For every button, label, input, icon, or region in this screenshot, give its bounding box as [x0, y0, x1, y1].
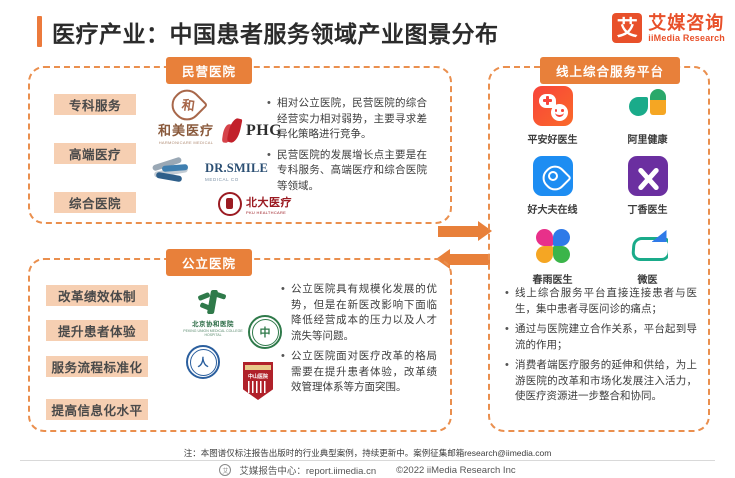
- logo-sub-pku: PKU HEALTHCARE: [246, 210, 292, 215]
- logo-label-pumc: 北京协和医院: [178, 318, 248, 328]
- chip-private-0: 专科服务: [54, 94, 136, 115]
- bullet-text: 相对公立医院，民营医院的综合经营实力相对弱势，主要寻求差异化策略进行竞争。: [277, 96, 427, 143]
- chip-private-1: 高端医疗: [54, 143, 136, 164]
- app-label: 阿里健康: [628, 131, 668, 146]
- bullet-dot-icon: •: [281, 349, 291, 364]
- bullet-item: • 通过与医院建立合作关系，平台起到导流的作用；: [505, 322, 697, 353]
- logo-label-en: HARMONICARE MEDICAL: [148, 140, 224, 145]
- app-item-chunyu[interactable]: 春雨医生: [512, 226, 594, 286]
- circular-seal-icon: 人: [186, 345, 220, 379]
- app-label: 平安好医生: [528, 131, 578, 146]
- app-item-dingxiang[interactable]: 丁香医生: [607, 156, 689, 216]
- chip-public-3: 提高信息化水平: [46, 399, 148, 420]
- pingan-good-doctor-icon: [533, 86, 573, 126]
- bullet-dot-icon: •: [505, 322, 515, 337]
- logo-sub-drsmile: MEDICAL CO: [205, 177, 268, 182]
- bullet-item: • 公立医院面对医疗改革的格局需要在提升患者体验，改革绩效管理体系等方面突围。: [281, 349, 437, 396]
- bullet-dot-icon: •: [505, 358, 515, 373]
- app-item-pingan[interactable]: 平安好医生: [512, 86, 594, 146]
- logo-dr-smile: DR.SMILE MEDICAL CO: [152, 158, 268, 184]
- logo-hospital-seal-blue: 人: [186, 345, 220, 379]
- panel-title-online: 线上综合服务平台: [540, 57, 680, 84]
- app-row: 好大夫在线 丁香医生: [505, 156, 695, 216]
- page-title: 医疗产业：中国患者服务领域产业图景分布: [52, 15, 499, 49]
- app-label: 丁香医生: [628, 201, 668, 216]
- brand-logo: 艾 艾媒咨询 iiMedia Research: [612, 13, 725, 43]
- infographic-page: 医疗产业：中国患者服务领域产业图景分布 艾 艾媒咨询 iiMedia Resea…: [0, 0, 735, 478]
- bullet-item: • 消费者端医疗服务的延伸和供给，为上游医院的改革和市场化发展注入活力，使医疗资…: [505, 358, 697, 405]
- bullet-text: 消费者端医疗服务的延伸和供给，为上游医院的改革和市场化发展注入活力，使医疗资源进…: [515, 358, 697, 405]
- iimedia-mark-icon: 艾: [612, 13, 642, 43]
- bullet-item: • 民营医院的发展增长点主要是在专科服务、高端医疗和综合医院等领域。: [267, 148, 427, 195]
- chip-public-0: 改革绩效体制: [46, 285, 148, 306]
- bullet-item: • 公立医院具有规模化发展的优势，但是在新医改影响下面临降低经营成本的压力以及人…: [281, 282, 437, 344]
- footnote: 注：本图谱仅标注报告出版时的行业典型案例，持续更新中。案例征集邮箱researc…: [0, 447, 735, 459]
- title-accent-bar: [37, 16, 42, 47]
- footer-divider: [20, 460, 715, 461]
- logo-hospital-shield: 中山医院: [243, 362, 273, 400]
- app-label: 春雨医生: [533, 271, 573, 286]
- bullet-text: 通过与医院建立合作关系，平台起到导流的作用；: [515, 322, 697, 353]
- weiyi-icon: [628, 226, 668, 266]
- bullets-private: • 相对公立医院，民营医院的综合经营实力相对弱势，主要寻求差异化策略进行竞争。 …: [267, 96, 427, 199]
- flame-icon: [222, 118, 242, 144]
- logo-label-drsmile: DR.SMILE: [205, 161, 268, 176]
- bullet-dot-icon: •: [267, 148, 277, 163]
- haodf-online-icon: [533, 156, 573, 196]
- footer-bar: 艾 艾媒报告中心：report.iimedia.cn ©2022 iiMedia…: [0, 463, 735, 477]
- bullet-text: 线上综合服务平台直接连接患者与医生，集中患者寻医问诊的痛点；: [515, 286, 697, 317]
- shield-label: 中山医院: [243, 373, 273, 380]
- bullet-text: 公立医院面对医疗改革的格局需要在提升患者体验，改革绩效管理体系等方面突围。: [291, 349, 437, 396]
- app-label: 好大夫在线: [528, 201, 578, 216]
- chip-public-1: 提升患者体验: [46, 320, 148, 341]
- bullet-text: 公立医院具有规模化发展的优势，但是在新医改影响下面临降低经营成本的压力以及人才流…: [291, 282, 437, 344]
- chip-private-2: 综合医院: [54, 192, 136, 213]
- bullet-dot-icon: •: [281, 282, 291, 297]
- chip-public-2: 服务流程标准化: [46, 356, 148, 377]
- bullet-dot-icon: •: [267, 96, 277, 111]
- bullets-online: • 线上综合服务平台直接连接患者与医生，集中患者寻医问诊的痛点； • 通过与医院…: [505, 286, 697, 410]
- heart-icon: 和: [169, 88, 203, 118]
- logo-label-cn: 和美医疗: [148, 120, 224, 139]
- app-label: 微医: [638, 271, 658, 286]
- logo-sub-pumc: PEKING UNION MEDICAL COLLEGE HOSPITAL: [178, 329, 248, 337]
- seal-glyph: 人: [198, 354, 209, 370]
- app-item-weiyi[interactable]: 微医: [607, 226, 689, 286]
- brand-name-en: iiMedia Research: [648, 34, 725, 43]
- logo-hemei-medical: 和 和美医疗 HARMONICARE MEDICAL: [148, 88, 224, 145]
- bullet-item: • 相对公立医院，民营医院的综合经营实力相对弱势，主要寻求差异化策略进行竞争。: [267, 96, 427, 143]
- logo-pumc-hospital: 北京协和医院 PEKING UNION MEDICAL COLLEGE HOSP…: [178, 290, 248, 337]
- bullets-public: • 公立医院具有规模化发展的优势，但是在新医改影响下面临降低经营成本的压力以及人…: [281, 282, 437, 401]
- circular-seal-icon: 中: [248, 315, 282, 349]
- iimedia-circle-icon: 艾: [219, 464, 231, 476]
- app-row: 平安好医生 阿里健康: [505, 86, 695, 146]
- app-item-haodf[interactable]: 好大夫在线: [512, 156, 594, 216]
- arrow-right-icon: [438, 226, 478, 237]
- app-item-alihealth[interactable]: 阿里健康: [607, 86, 689, 146]
- wings-icon: [152, 158, 200, 184]
- dingxiang-doctor-icon: [628, 156, 668, 196]
- logo-text-block: DR.SMILE MEDICAL CO: [205, 161, 268, 182]
- app-row: 春雨医生 微医: [505, 226, 695, 286]
- bullet-text: 民营医院的发展增长点主要是在专科服务、高端医疗和综合医院等领域。: [277, 148, 427, 195]
- ali-health-icon: [628, 86, 668, 126]
- panel-title-private: 民营医院: [166, 57, 252, 84]
- cross-emblem-icon: [198, 290, 228, 316]
- seal-glyph: 中: [260, 324, 271, 340]
- bullet-dot-icon: •: [505, 286, 515, 301]
- logo-hospital-seal-green: 中: [248, 315, 282, 349]
- shield-emblem-icon: 中山医院: [243, 362, 273, 400]
- arrow-left-icon: [450, 254, 490, 265]
- brand-text: 艾媒咨询 iiMedia Research: [648, 14, 725, 43]
- seal-icon: [218, 192, 242, 216]
- report-center-link[interactable]: 艾媒报告中心：report.iimedia.cn: [239, 463, 376, 477]
- brand-name-cn: 艾媒咨询: [648, 14, 725, 32]
- copyright-text: ©2022 iiMedia Research Inc: [396, 465, 515, 476]
- page-header: 医疗产业：中国患者服务领域产业图景分布 艾 艾媒咨询 iiMedia Resea…: [0, 0, 735, 55]
- app-grid: 平安好医生 阿里健康 好大夫在线 丁香医生: [505, 86, 695, 296]
- panel-title-public: 公立医院: [166, 249, 252, 276]
- chunyu-doctor-icon: [533, 226, 573, 266]
- bullet-item: • 线上综合服务平台直接连接患者与医生，集中患者寻医问诊的痛点；: [505, 286, 697, 317]
